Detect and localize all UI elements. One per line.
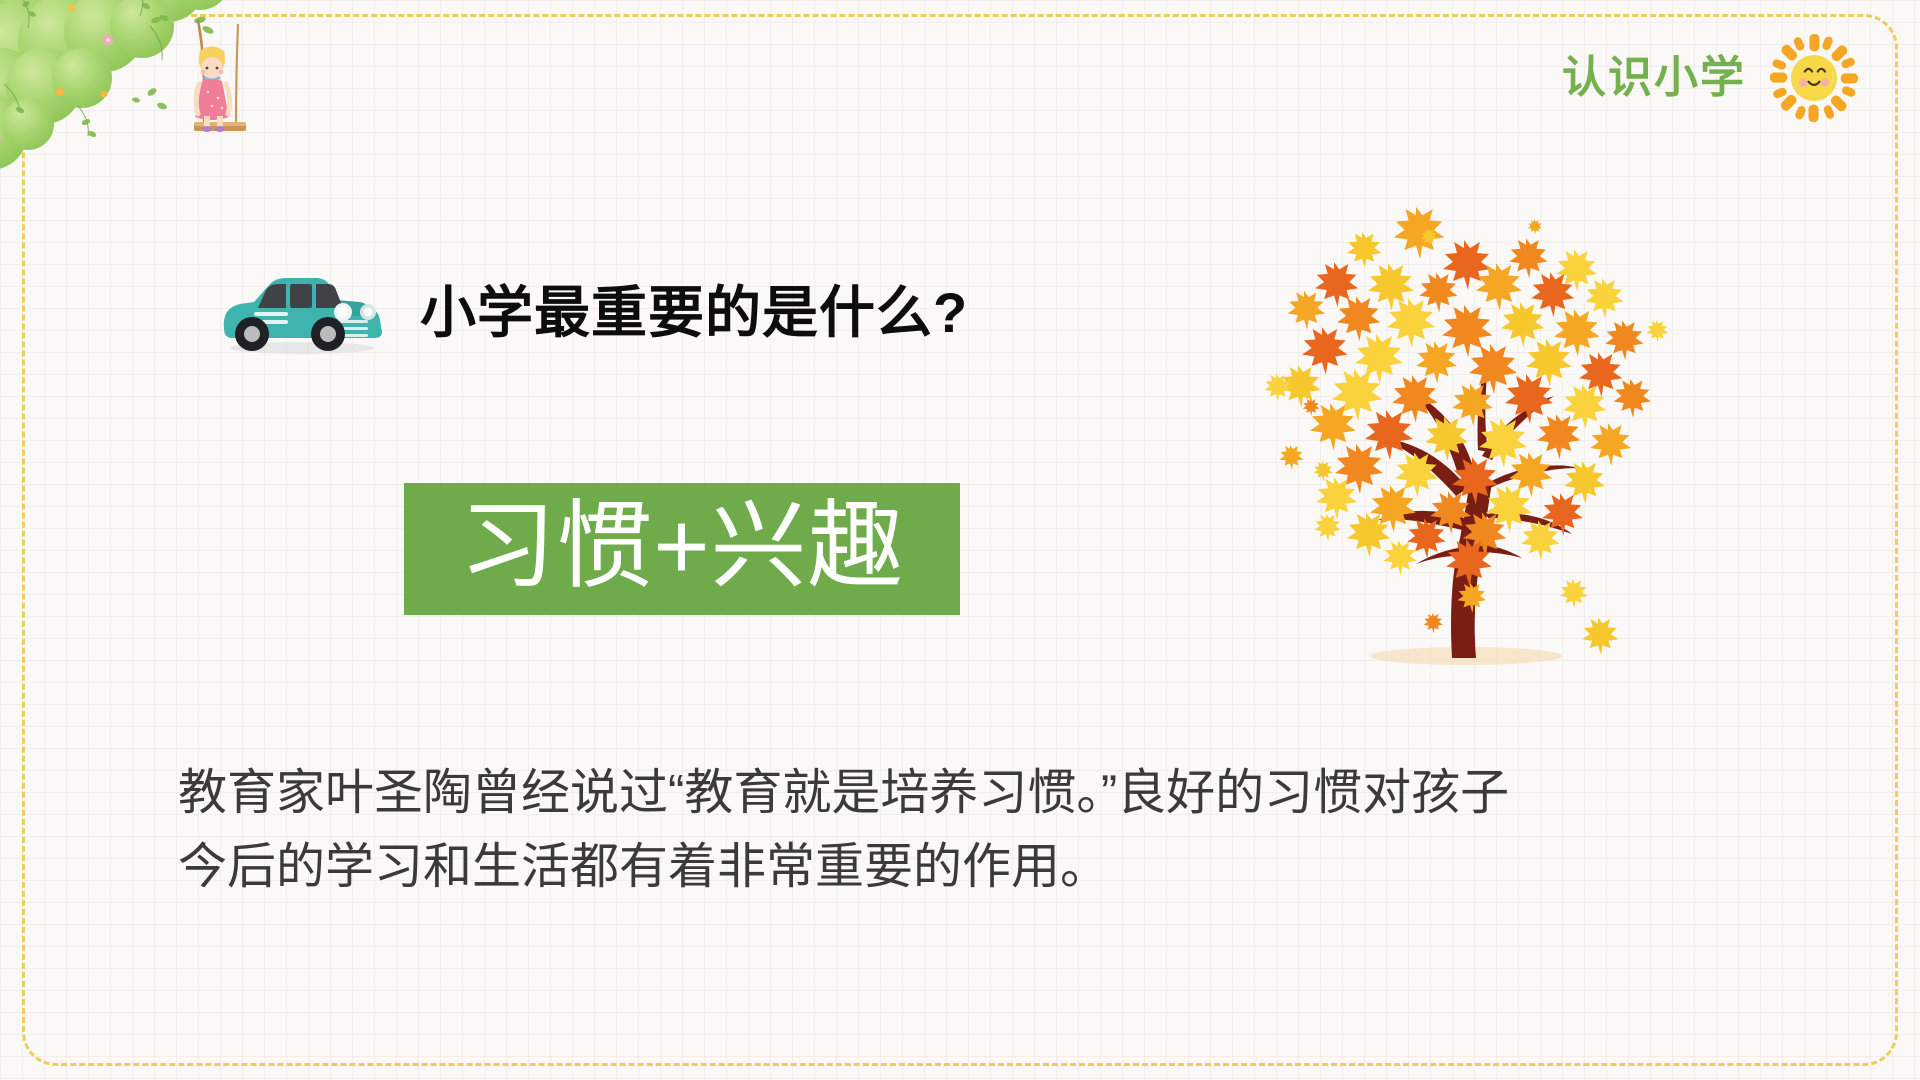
body-paragraph-line-2: 今后的学习和生活都有着非常重要的作用。 bbox=[178, 830, 1598, 904]
slide-canvas: 认识小学 bbox=[0, 0, 1920, 1080]
question-title: 小学最重要的是什么? bbox=[420, 285, 968, 341]
body-paragraph: 教育家叶圣陶曾经说过“教育就是培养习惯。”良好的习惯对孩子 今后的学习和生活都有… bbox=[178, 756, 1598, 905]
keyword-banner-text: 习惯+兴趣 bbox=[459, 499, 904, 595]
smiling-sun-icon bbox=[1768, 32, 1860, 124]
teal-retro-car-icon bbox=[218, 270, 384, 356]
keyword-banner: 习惯+兴趣 bbox=[404, 483, 960, 615]
question-row: 小学最重要的是什么? bbox=[218, 270, 968, 356]
header-title: 认识小学 bbox=[1562, 56, 1746, 100]
slide-header: 认识小学 bbox=[1562, 32, 1860, 124]
watercolor-tree-with-girl-on-swing-icon bbox=[0, 0, 276, 189]
autumn-maple-tree-icon bbox=[1238, 188, 1668, 668]
body-paragraph-line-1: 教育家叶圣陶曾经说过“教育就是培养习惯。”良好的习惯对孩子 bbox=[178, 756, 1598, 830]
